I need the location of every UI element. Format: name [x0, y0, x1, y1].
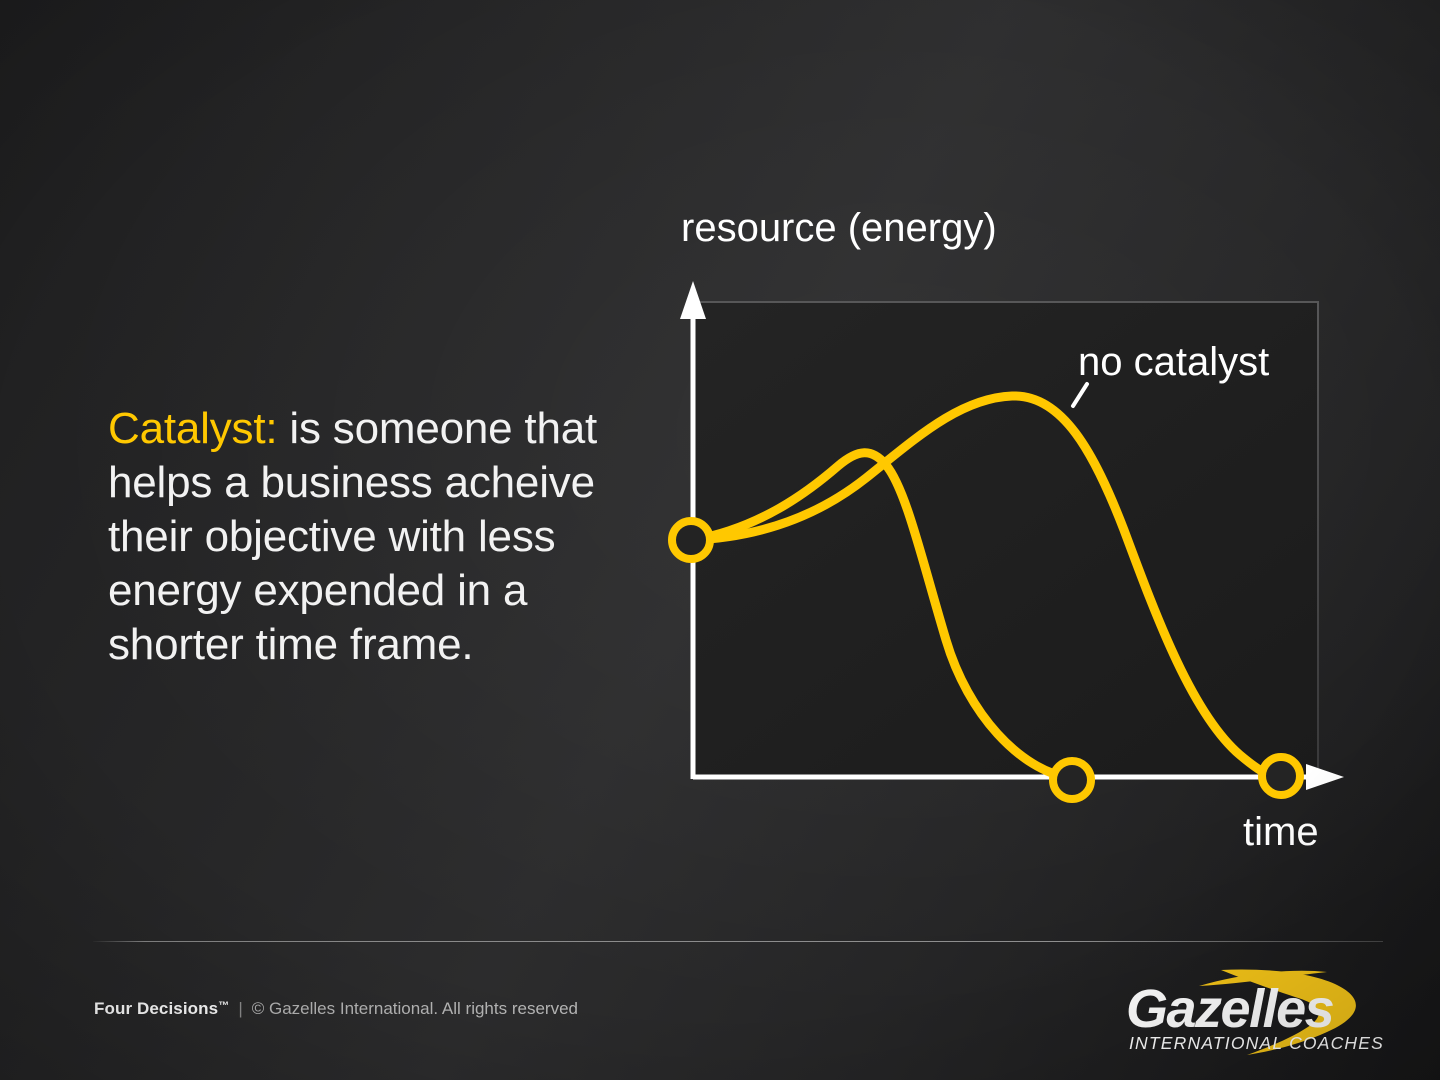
slide-canvas: resource (energy) time no catalyst Catal… [0, 0, 1440, 1080]
footer-separator: | [229, 999, 251, 1018]
logo-tagline: INTERNATIONAL COACHES [1129, 1035, 1384, 1053]
logo-wordmark: Gazelles [1126, 982, 1333, 1036]
y-axis-label: resource (energy) [681, 208, 997, 248]
x-axis-arrowhead [1306, 764, 1344, 790]
gazelles-logo: Gazelles INTERNATIONAL COACHES [1113, 962, 1413, 1060]
no-catalyst-annotation-label: no catalyst [1078, 340, 1269, 385]
body-copy: Catalyst: is someone that helps a busine… [108, 402, 648, 672]
marker-catalyst-end [1053, 761, 1091, 799]
x-axis-label: time [1243, 812, 1319, 852]
marker-no-catalyst-end [1262, 757, 1300, 795]
y-axis-arrowhead [680, 281, 706, 319]
trademark-symbol: ™ [218, 1000, 229, 1012]
footer-brand-name: Four Decisions [94, 999, 218, 1018]
footer-text: Four Decisions™|© Gazelles International… [94, 1000, 578, 1017]
footer-brand: Four Decisions™ [94, 999, 229, 1018]
footer-divider [93, 941, 1383, 942]
marker-origin [672, 521, 710, 559]
body-copy-lead: Catalyst: [108, 404, 277, 453]
footer-copyright: © Gazelles International. All rights res… [252, 999, 578, 1018]
